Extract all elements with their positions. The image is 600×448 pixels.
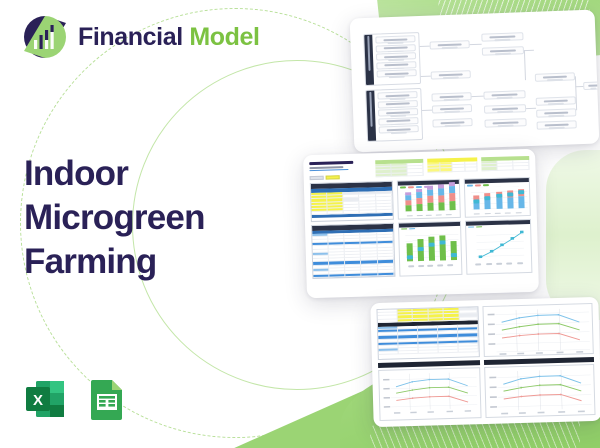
tree-node (535, 72, 575, 81)
dashboard-header (309, 156, 529, 180)
brand-logo[interactable]: Financial Model (22, 14, 260, 60)
bar (450, 241, 457, 260)
page-title-line-1: Indoor (24, 152, 254, 196)
dupont-tree-canvas (359, 20, 592, 144)
dashboard-titleblock (309, 160, 372, 180)
balance-sheet-group (365, 88, 423, 142)
format-badges: X (22, 376, 130, 422)
dashboard-kpi-panel-2 (427, 157, 477, 172)
annual-projections-chart-right (484, 364, 596, 418)
income-statement-group (363, 32, 421, 86)
excel-icon-letter: X (33, 392, 43, 409)
tree-node (483, 90, 525, 100)
tree-node-roe (583, 81, 599, 90)
chart-plot-area (399, 229, 462, 266)
summary-projections-chart-a (482, 303, 594, 357)
bar (438, 184, 445, 210)
google-sheets-icon[interactable] (84, 376, 130, 422)
line-plot (483, 304, 593, 356)
bar (496, 191, 502, 208)
tree-node (481, 32, 523, 42)
pie-bar-chart-circle-icon (22, 14, 68, 60)
cost-analysis-table (310, 181, 394, 222)
bar (427, 185, 434, 210)
line-plot (379, 368, 480, 416)
line-plot (485, 365, 595, 417)
bar (439, 236, 446, 261)
core-financials-table (311, 222, 395, 279)
tree-node (482, 46, 524, 56)
bar (416, 189, 423, 211)
page-title: Indoor Microgreen Farming (24, 152, 254, 284)
dashboard-kpi-panel-3 (481, 156, 529, 171)
tree-node (536, 96, 576, 105)
tree-node (430, 40, 470, 49)
excel-icon[interactable]: X (22, 376, 68, 422)
tree-node (537, 120, 577, 129)
dupont-tree-card[interactable] (350, 10, 600, 153)
tree-node (431, 92, 471, 101)
charts-card[interactable] (370, 297, 600, 427)
logo-word-financial: Financial (78, 23, 183, 51)
chart-plot-area (465, 186, 529, 214)
bar (407, 244, 414, 262)
tree-node (536, 108, 576, 117)
chart-plot-area (398, 188, 460, 216)
annual-projections-chart-left (378, 367, 481, 421)
bar (484, 193, 490, 209)
bar (507, 190, 514, 208)
top-revenue-streams-chart (396, 179, 461, 219)
profitability-chart (464, 177, 531, 217)
tree-node (431, 70, 471, 79)
tree-node (432, 118, 472, 127)
bar (417, 239, 424, 261)
tree-node (484, 118, 526, 128)
page-title-line-2: Microgreen (24, 196, 254, 240)
bar (473, 195, 479, 209)
bar (449, 182, 456, 210)
logo-word-model: Model (189, 23, 259, 51)
green-strip-decoration (546, 150, 600, 320)
promo-banner: Financial Model Indoor Microgreen Farmin… (0, 0, 600, 448)
investment-payback-chart (465, 219, 532, 275)
bar (405, 192, 412, 211)
dashboard-card[interactable] (303, 149, 539, 298)
tree-node (432, 104, 472, 113)
payback-line-plot (466, 227, 531, 264)
bar (518, 189, 525, 208)
tree-node (484, 104, 526, 114)
logo-wordmark: Financial Model (78, 23, 260, 52)
bar (428, 237, 435, 261)
cash-flow-chart (398, 221, 463, 277)
dashboard-kpi-panel-1 (376, 159, 424, 177)
page-title-line-3: Farming (24, 240, 254, 284)
revenue-assumptions-table (376, 306, 479, 360)
